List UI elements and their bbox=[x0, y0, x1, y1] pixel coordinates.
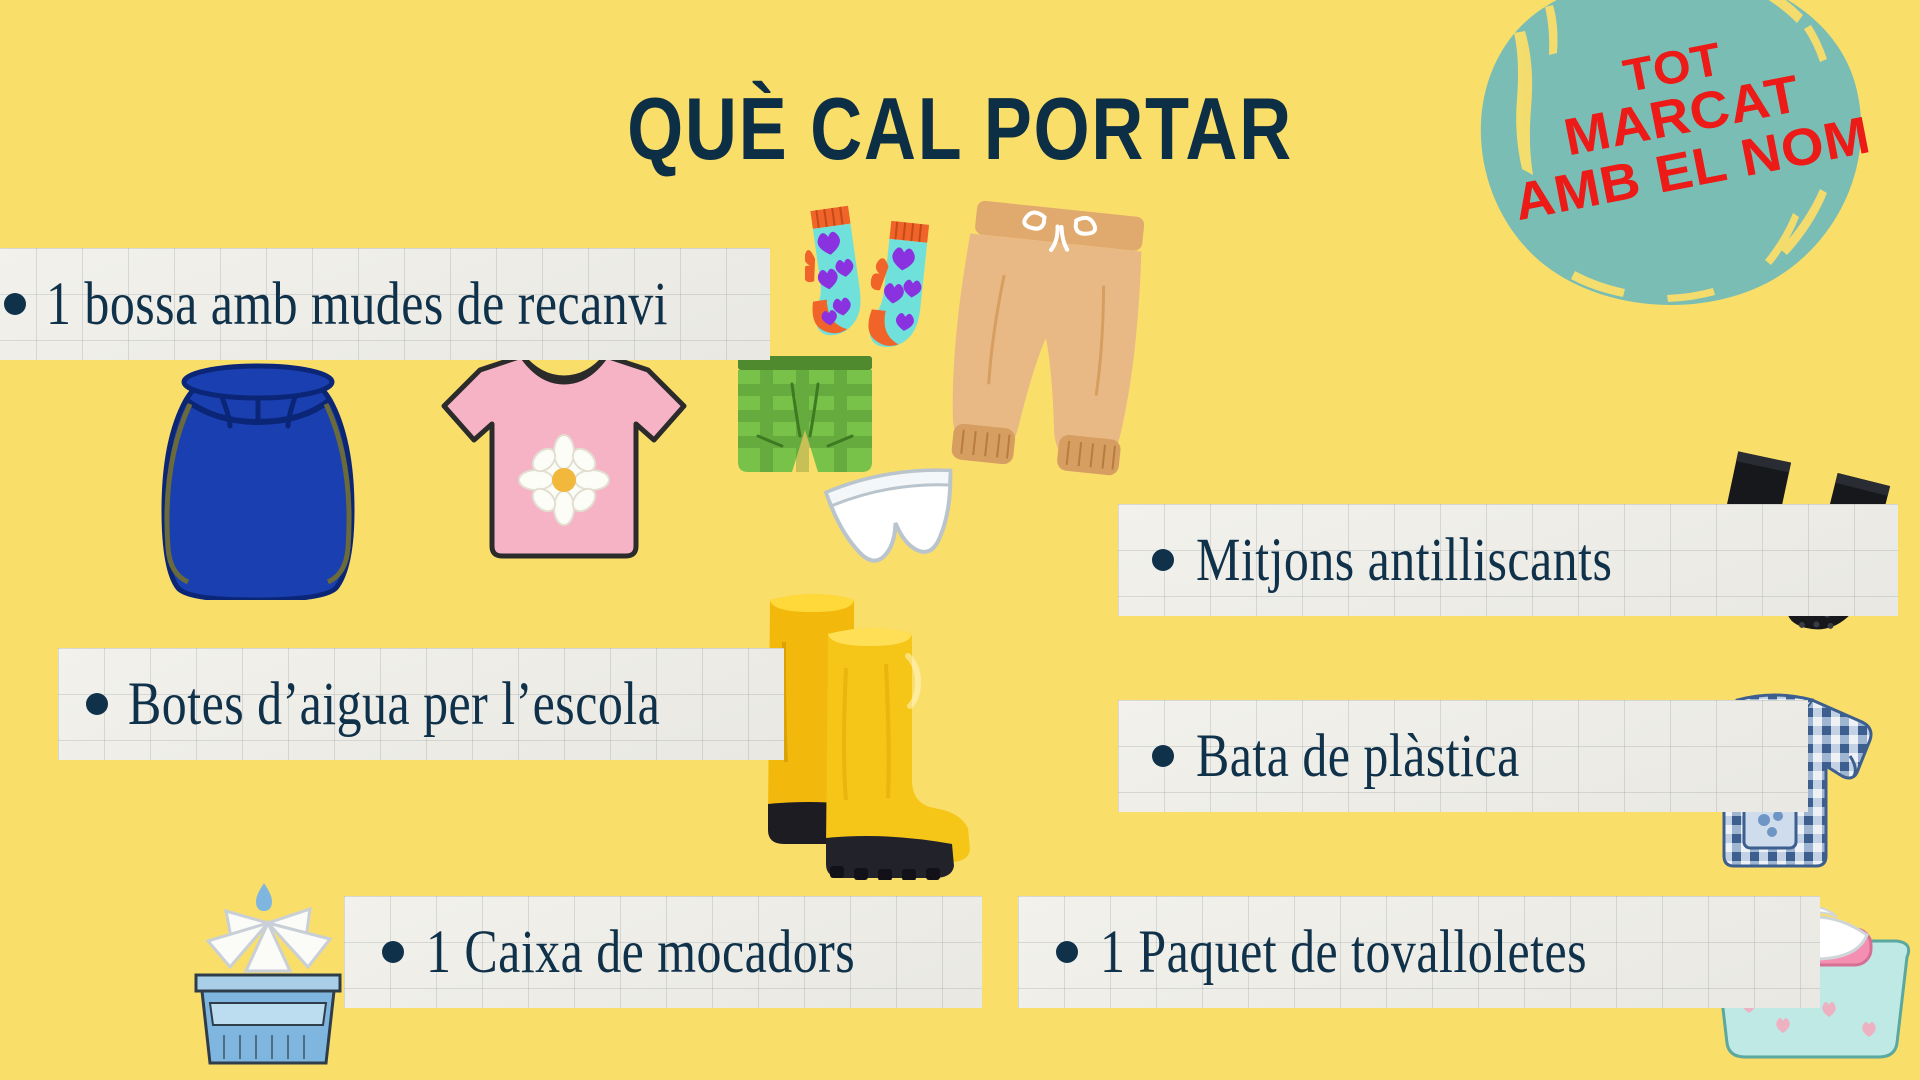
tshirt-illustration bbox=[430, 340, 700, 570]
bullet-icon bbox=[86, 693, 108, 715]
bullet-icon bbox=[1152, 549, 1174, 571]
marked-with-name-stamp: TOT MARCAT AMB EL NOM bbox=[1455, 0, 1885, 305]
list-item-label: 1 Caixa de mocadors bbox=[426, 917, 855, 987]
drawstring-bag-illustration bbox=[130, 330, 410, 600]
bullet-icon bbox=[4, 293, 26, 315]
list-item-label: 1 Paquet de tovalloletes bbox=[1100, 917, 1587, 987]
joggers-illustration bbox=[925, 200, 1165, 530]
list-item-tissues[interactable]: 1 Caixa de mocadors bbox=[344, 896, 982, 1008]
list-item-bag[interactable]: 1 bossa amb mudes de recanvi bbox=[0, 248, 770, 360]
list-item-label: Botes d’aigua per l’escola bbox=[128, 669, 660, 739]
list-item-label: 1 bossa amb mudes de recanvi bbox=[46, 269, 668, 339]
rain-boots-illustration bbox=[750, 590, 1000, 880]
list-item-label: Mitjons antilliscants bbox=[1196, 525, 1612, 595]
poster-canvas: QUÈ CAL PORTAR TOT MARCAT AMB EL NOM bbox=[0, 0, 1920, 1080]
bullet-icon bbox=[382, 941, 404, 963]
list-item-boots[interactable]: Botes d’aigua per l’escola bbox=[58, 648, 784, 760]
list-item-smock[interactable]: Bata de plàstica bbox=[1118, 700, 1808, 812]
list-item-grip-socks[interactable]: Mitjons antilliscants bbox=[1118, 504, 1898, 616]
list-item-wipes[interactable]: 1 Paquet de tovalloletes bbox=[1018, 896, 1820, 1008]
tissue-box-illustration bbox=[168, 875, 368, 1075]
list-item-label: Bata de plàstica bbox=[1196, 721, 1520, 791]
bullet-icon bbox=[1152, 745, 1174, 767]
bullet-icon bbox=[1056, 941, 1078, 963]
